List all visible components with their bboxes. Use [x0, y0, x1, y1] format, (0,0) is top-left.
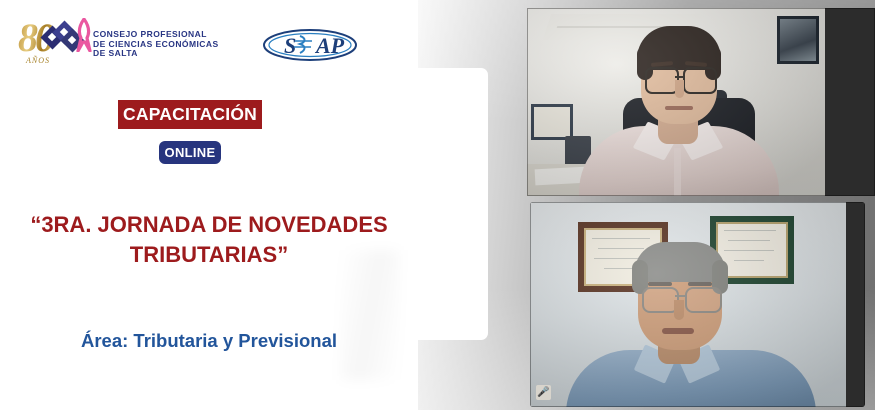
pink-ribbon-icon — [75, 18, 93, 52]
slide-logo-row: 80 AÑOS CONSEJO PROFESIONAL DE CIENCIAS … — [0, 8, 418, 70]
sap-logo: S AP — [262, 28, 358, 62]
slide-overflow-panel — [418, 68, 488, 340]
online-badge: ONLINE — [159, 141, 221, 164]
cpce-line-3: DE SALTA — [93, 49, 219, 59]
cpce-wordmark: CONSEJO PROFESIONAL DE CIENCIAS ECONÓMIC… — [93, 30, 219, 59]
mic-badge-glyph: 🎤 — [537, 388, 549, 398]
slide-title: “3RA. JORNADA DE NOVEDADES TRIBUTARIAS” — [12, 210, 406, 270]
svg-text:S: S — [284, 33, 296, 58]
capacitacion-label: CAPACITACIÓN — [123, 104, 257, 125]
participant-video-feed-top — [527, 8, 825, 196]
participant-tile-bottom[interactable]: 🎤 — [530, 202, 865, 407]
online-label: ONLINE — [165, 145, 216, 160]
presentation-slide: 80 AÑOS CONSEJO PROFESIONAL DE CIENCIAS … — [0, 0, 418, 410]
anniversary-80-logo: 80 AÑOS — [18, 16, 90, 68]
capacitacion-banner: CAPACITACIÓN — [118, 100, 262, 129]
slide-area-line: Área: Tributaria y Previsional — [12, 330, 406, 352]
participant-tile-top[interactable] — [527, 8, 875, 196]
svg-text:AP: AP — [314, 33, 345, 58]
participant-video-feed-bottom — [530, 202, 846, 407]
meeting-screen-share-view: 80 AÑOS CONSEJO PROFESIONAL DE CIENCIAS … — [0, 0, 875, 410]
anniversary-word: AÑOS — [26, 56, 50, 65]
microphone-status-icon[interactable]: 🎤 — [536, 385, 551, 400]
